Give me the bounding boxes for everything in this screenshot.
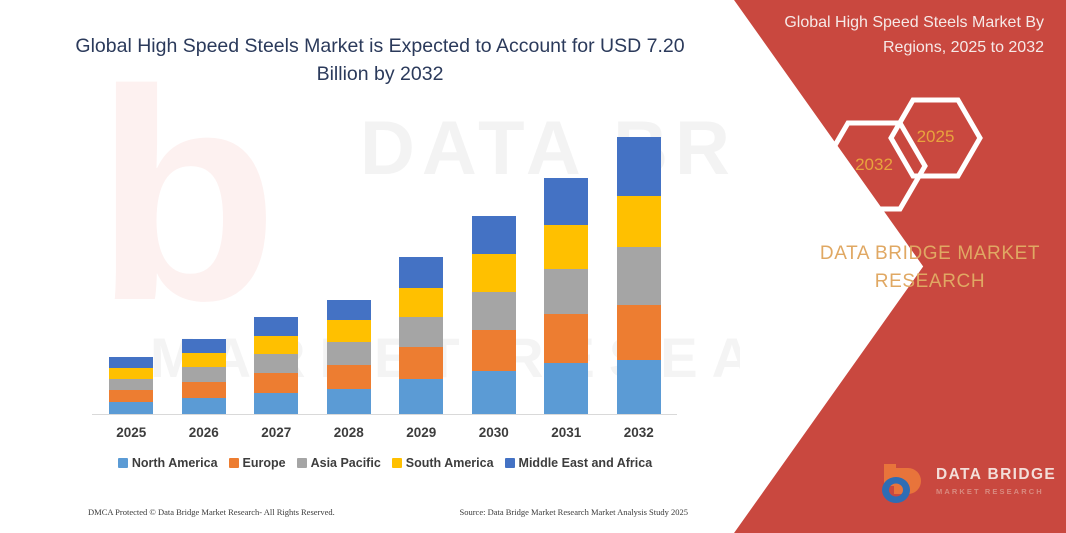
x-axis-label-2030: 2030 — [462, 425, 526, 440]
bar-segment — [544, 269, 588, 314]
panel-title: Global High Speed Steels Market By Regio… — [744, 10, 1044, 60]
bar-segment — [544, 178, 588, 225]
stacked-bar-chart — [95, 120, 675, 415]
legend-label: Asia Pacific — [311, 456, 381, 470]
bar-segment — [254, 354, 298, 373]
bar-segment — [399, 379, 443, 415]
legend-swatch-icon — [229, 458, 239, 468]
x-axis-label-2032: 2032 — [607, 425, 671, 440]
x-axis-line — [92, 414, 677, 415]
databridge-logo-text: DATA BRIDGE MARKET RESEARCH — [936, 466, 1056, 496]
infographic-canvas: b DATA BRIDGE MARKET RESEARCH Global Hig… — [0, 0, 1066, 533]
bar-segment — [617, 196, 661, 247]
bar-segment — [617, 137, 661, 196]
footer: DMCA Protected © Data Bridge Market Rese… — [88, 507, 688, 517]
footer-copyright: DMCA Protected © Data Bridge Market Rese… — [88, 507, 335, 517]
bar-2030 — [472, 216, 516, 415]
bar-segment — [399, 347, 443, 379]
bar-segment — [182, 398, 226, 415]
legend-item[interactable]: South America — [392, 456, 494, 470]
footer-source: Source: Data Bridge Market Research Mark… — [459, 507, 688, 517]
x-axis-label-2028: 2028 — [317, 425, 381, 440]
legend-label: South America — [406, 456, 494, 470]
bar-segment — [399, 317, 443, 347]
bar-2029 — [399, 257, 443, 415]
x-axis-label-2031: 2031 — [534, 425, 598, 440]
bar-segment — [399, 257, 443, 288]
bar-segment — [617, 360, 661, 415]
bar-segment — [399, 288, 443, 317]
bar-segment — [327, 300, 371, 320]
bar-segment — [327, 320, 371, 342]
bar-2031 — [544, 178, 588, 415]
databridge-logo-icon — [878, 462, 934, 508]
legend-item[interactable]: North America — [118, 456, 218, 470]
bar-segment — [544, 225, 588, 269]
bar-segment — [472, 254, 516, 292]
bar-2028 — [327, 300, 371, 415]
hexagon-2025-label: 2025 — [888, 127, 983, 147]
bar-segment — [182, 367, 226, 382]
legend-swatch-icon — [392, 458, 402, 468]
legend-label: North America — [132, 456, 218, 470]
bar-segment — [254, 373, 298, 393]
x-axis-label-2025: 2025 — [99, 425, 163, 440]
bar-segment — [617, 247, 661, 305]
legend-item[interactable]: Europe — [229, 456, 286, 470]
legend-swatch-icon — [505, 458, 515, 468]
legend-item[interactable]: Middle East and Africa — [505, 456, 653, 470]
bar-segment — [254, 317, 298, 336]
bar-segment — [109, 368, 153, 379]
logo-main-text: DATA BRIDGE — [936, 466, 1056, 484]
bar-segment — [182, 382, 226, 398]
bar-segment — [327, 389, 371, 415]
legend-label: Europe — [243, 456, 286, 470]
legend-swatch-icon — [118, 458, 128, 468]
bar-segment — [254, 336, 298, 354]
bar-segment — [182, 339, 226, 353]
bar-segment — [182, 353, 226, 367]
panel-brand-line1: DATA BRIDGE MARKET — [780, 240, 1066, 268]
bar-segment — [109, 390, 153, 402]
bar-segment — [472, 216, 516, 254]
bar-segment — [254, 393, 298, 415]
bar-segment — [544, 314, 588, 363]
hexagon-badges: 2032 2025 — [820, 96, 1000, 206]
bar-segment — [109, 379, 153, 390]
legend-swatch-icon — [297, 458, 307, 468]
bar-2025 — [109, 357, 153, 415]
legend-item[interactable]: Asia Pacific — [297, 456, 381, 470]
legend-label: Middle East and Africa — [519, 456, 653, 470]
x-axis-labels: 20252026202720282029203020312032 — [95, 425, 675, 447]
bar-segment — [109, 357, 153, 368]
databridge-logo: DATA BRIDGE MARKET RESEARCH — [878, 462, 1058, 510]
bar-2027 — [254, 317, 298, 415]
bar-segment — [472, 371, 516, 415]
panel-brand: DATA BRIDGE MARKET RESEARCH — [780, 240, 1066, 296]
bar-segment — [327, 342, 371, 365]
x-axis-label-2027: 2027 — [244, 425, 308, 440]
bar-2032 — [617, 137, 661, 415]
chart-legend: North AmericaEuropeAsia PacificSouth Ame… — [95, 456, 675, 470]
bar-segment — [472, 330, 516, 371]
bar-2026 — [182, 339, 226, 415]
panel-brand-line2: RESEARCH — [780, 268, 1066, 296]
logo-sub-text: MARKET RESEARCH — [936, 487, 1056, 496]
bar-segment — [544, 363, 588, 415]
bar-segment — [472, 292, 516, 330]
bar-segment — [617, 305, 661, 360]
page-title: Global High Speed Steels Market is Expec… — [60, 32, 700, 88]
x-axis-label-2029: 2029 — [389, 425, 453, 440]
bar-segment — [327, 365, 371, 389]
x-axis-label-2026: 2026 — [172, 425, 236, 440]
